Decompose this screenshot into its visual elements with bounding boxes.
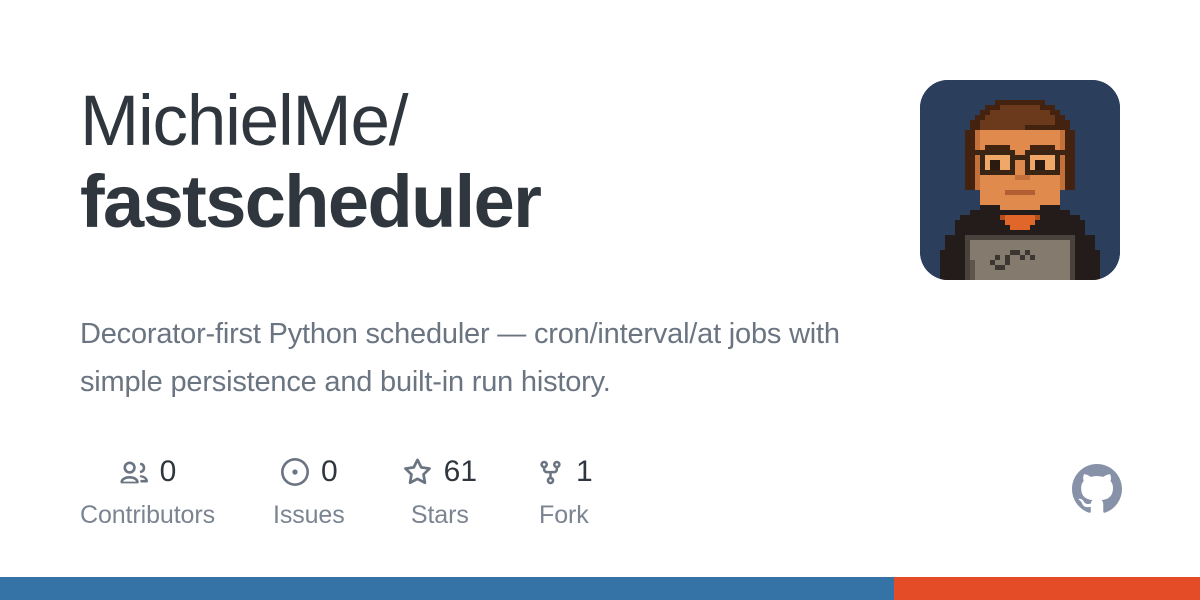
star-icon	[403, 457, 433, 487]
stat-stars-label: Stars	[411, 501, 469, 530]
page-title: MichielMe/ fastscheduler	[80, 86, 880, 246]
repo-stats: 0 Contributors 0 Issues	[80, 452, 593, 530]
repo-forked-icon	[535, 457, 565, 487]
stat-issues-value: 0	[321, 457, 338, 487]
language-bar	[0, 577, 1200, 600]
language-bar-segment-html	[894, 577, 1200, 600]
stat-contributors-label: Contributors	[80, 501, 215, 530]
github-social-preview-card: MichielMe/ fastscheduler Decorator-first…	[0, 0, 1200, 600]
stat-fork-top: 1	[535, 452, 593, 492]
repo-name: fastscheduler	[80, 158, 880, 245]
stat-contributors-top: 0	[119, 452, 177, 492]
stat-fork-label: Fork	[539, 501, 589, 530]
avatar-pixel-art	[920, 80, 1120, 280]
stat-stars-top: 61	[403, 452, 477, 492]
stat-issues: 0 Issues	[273, 452, 345, 530]
stat-contributors: 0 Contributors	[80, 452, 215, 530]
stat-fork: 1 Fork	[535, 452, 593, 530]
stat-fork-value: 1	[576, 457, 593, 487]
stat-issues-label: Issues	[273, 501, 345, 530]
stat-contributors-value: 0	[160, 457, 177, 487]
repo-owner: MichielMe/	[80, 86, 880, 158]
github-mark-icon	[1072, 464, 1122, 514]
repo-description: Decorator-first Python scheduler — cron/…	[80, 310, 870, 406]
people-icon	[119, 457, 149, 487]
stat-stars-value: 61	[444, 457, 477, 487]
avatar	[920, 80, 1120, 280]
stat-stars: 61 Stars	[403, 452, 477, 530]
language-bar-segment-python	[0, 577, 894, 600]
issue-opened-icon	[280, 457, 310, 487]
stat-issues-top: 0	[280, 452, 338, 492]
